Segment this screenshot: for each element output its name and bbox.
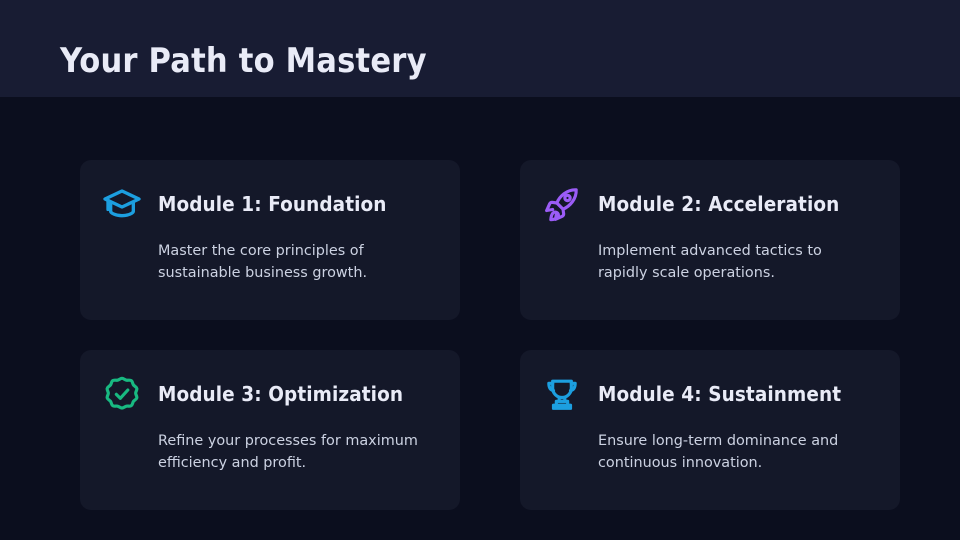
module-card-1-title: Module 1: Foundation — [158, 182, 387, 216]
module-card-2-description: Implement advanced tactics to rapidly sc… — [540, 226, 874, 284]
module-card-1[interactable]: Module 1: Foundation Master the core pri… — [80, 160, 460, 320]
module-card-4-description: Ensure long-term dominance and continuou… — [540, 416, 874, 474]
module-card-4-title: Module 4: Sustainment — [598, 372, 841, 406]
module-card-2-title: Module 2: Acceleration — [598, 182, 839, 216]
module-card-2[interactable]: Module 2: Acceleration Implement advance… — [520, 160, 900, 320]
card-header: Module 4: Sustainment — [540, 372, 876, 416]
module-card-4[interactable]: Module 4: Sustainment Ensure long-term d… — [520, 350, 900, 510]
module-card-3[interactable]: Module 3: Optimization Refine your proce… — [80, 350, 460, 510]
slide-root: Your Path to Mastery Module 1: Foundatio… — [0, 0, 960, 540]
module-card-3-description: Refine your processes for maximum effici… — [100, 416, 434, 474]
page-title: Your Path to Mastery — [60, 40, 427, 82]
module-card-3-title: Module 3: Optimization — [158, 372, 403, 406]
card-header: Module 1: Foundation — [100, 182, 436, 226]
module-card-grid: Module 1: Foundation Master the core pri… — [80, 160, 900, 510]
check-badge-icon — [100, 372, 144, 416]
card-header: Module 3: Optimization — [100, 372, 436, 416]
graduation-cap-icon — [100, 182, 144, 226]
header-band: Your Path to Mastery — [0, 0, 960, 97]
module-card-1-description: Master the core principles of sustainabl… — [100, 226, 434, 284]
trophy-icon — [540, 372, 584, 416]
rocket-icon — [540, 182, 584, 226]
card-header: Module 2: Acceleration — [540, 182, 876, 226]
